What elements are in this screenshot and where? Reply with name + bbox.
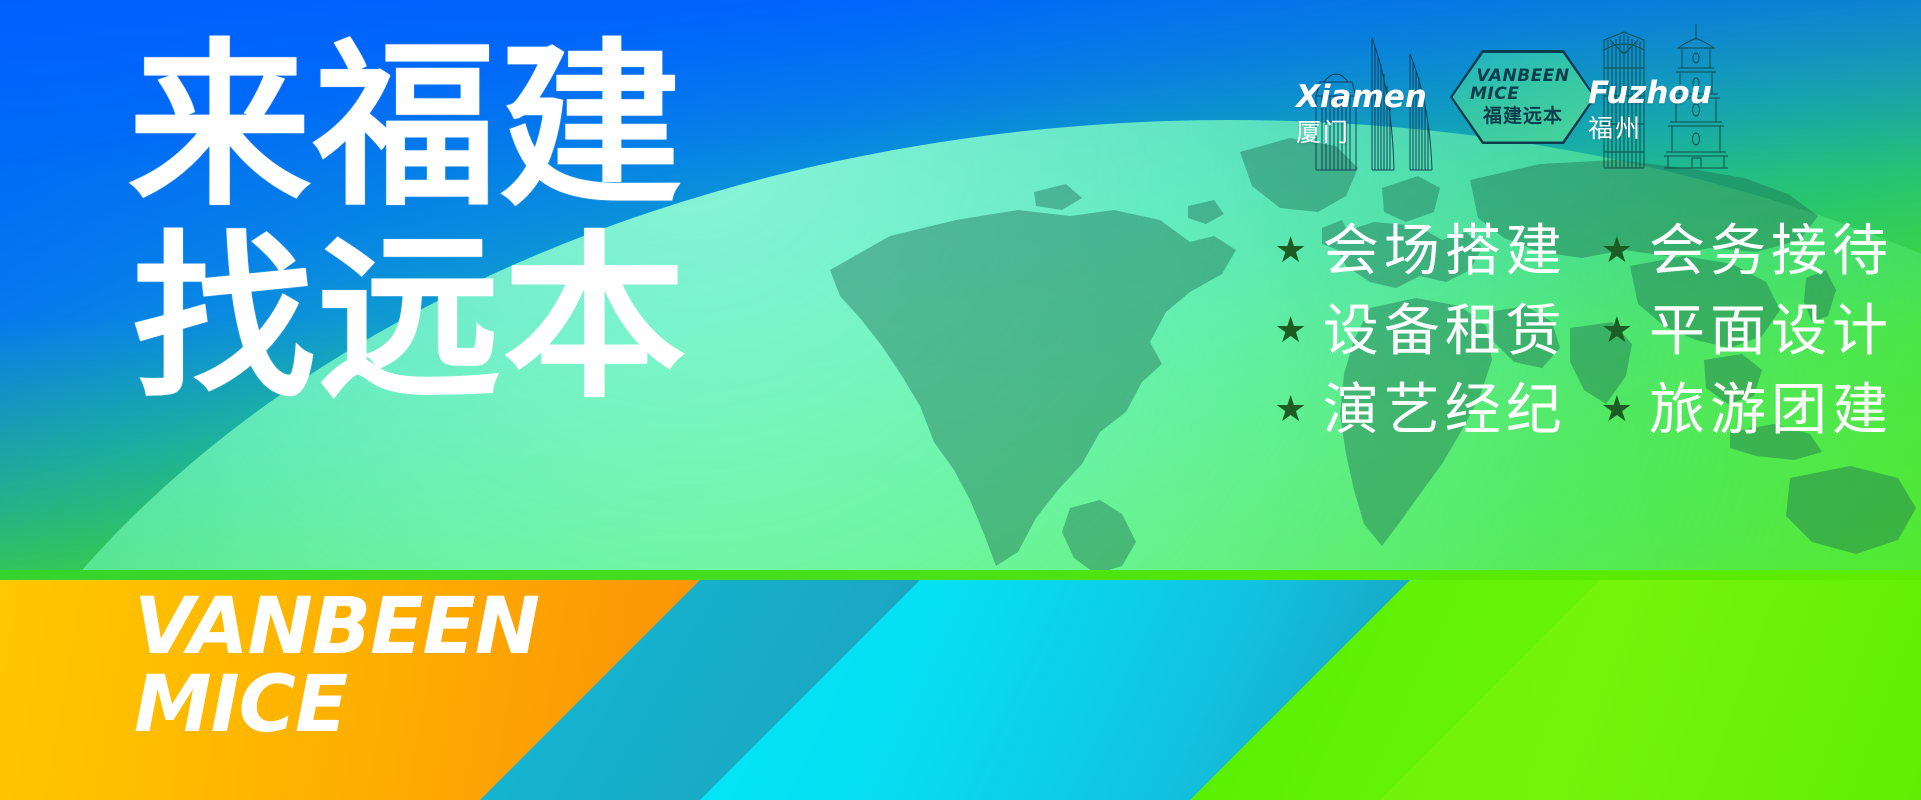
service-label: 会场搭建	[1323, 216, 1567, 288]
headline-line-2: 找远本	[132, 232, 688, 406]
service-label: 演艺经纪	[1323, 375, 1567, 447]
vanbeen-mice-wordmark: VANBEEN MICE	[134, 592, 539, 742]
fuzhou-name-en: Fuzhou	[1588, 78, 1712, 109]
hexagon-text: VANBEEN MICE 福建远本	[1450, 50, 1596, 144]
star-icon: ★	[1601, 232, 1633, 268]
services-list: ★ 会场搭建 ★ 会务接待 ★ 设备租赁 ★ 平面设计 ★ 演艺经纪 ★	[1274, 216, 1893, 447]
city-logo-group: Xiamen 厦门 VANBEEN MICE 福建远本	[1300, 4, 1920, 174]
star-icon: ★	[1601, 312, 1633, 348]
main-panel: 来福建 找远本 ★ 会场搭建 ★ 会务接待 ★ 设备租赁 ★ 平面设计 ★	[0, 0, 1921, 578]
hex-brand-cn: 福建远本	[1483, 106, 1563, 126]
headline-line-1: 来福建	[128, 40, 688, 214]
wordmark-line-1: VANBEEN	[134, 592, 539, 664]
service-item: ★ 设备租赁	[1274, 296, 1566, 368]
service-label: 会务接待	[1649, 216, 1893, 288]
xiamen-name-cn: 厦门	[1296, 120, 1427, 145]
service-item: ★ 会务接待	[1601, 216, 1893, 288]
hex-brand-line-1: VANBEEN	[1476, 67, 1569, 85]
star-icon: ★	[1601, 391, 1633, 427]
fuzhou-label: Fuzhou 福州	[1588, 78, 1712, 141]
star-icon: ★	[1274, 391, 1306, 427]
xiamen-name-en: Xiamen	[1296, 82, 1427, 113]
star-icon: ★	[1274, 232, 1306, 268]
hex-brand-line-2: MICE	[1470, 85, 1519, 103]
service-item: ★ 旅游团建	[1601, 375, 1893, 447]
service-item: ★ 演艺经纪	[1274, 375, 1566, 447]
star-icon: ★	[1274, 312, 1306, 348]
service-label: 平面设计	[1649, 296, 1893, 368]
fuzhou-name-cn: 福州	[1588, 116, 1712, 141]
headline: 来福建 找远本	[128, 40, 672, 407]
wordmark-line-2: MICE	[134, 670, 539, 742]
vanbeen-hexagon-logo: VANBEEN MICE 福建远本	[1450, 50, 1596, 144]
bar-top-edge-divider	[0, 570, 1921, 580]
service-item: ★ 平面设计	[1601, 296, 1893, 368]
service-item: ★ 会场搭建	[1274, 216, 1566, 288]
promotional-banner: 来福建 找远本 ★ 会场搭建 ★ 会务接待 ★ 设备租赁 ★ 平面设计 ★	[0, 0, 1921, 800]
service-label: 旅游团建	[1649, 375, 1893, 447]
service-label: 设备租赁	[1323, 296, 1567, 368]
xiamen-label: Xiamen 厦门	[1296, 82, 1427, 145]
